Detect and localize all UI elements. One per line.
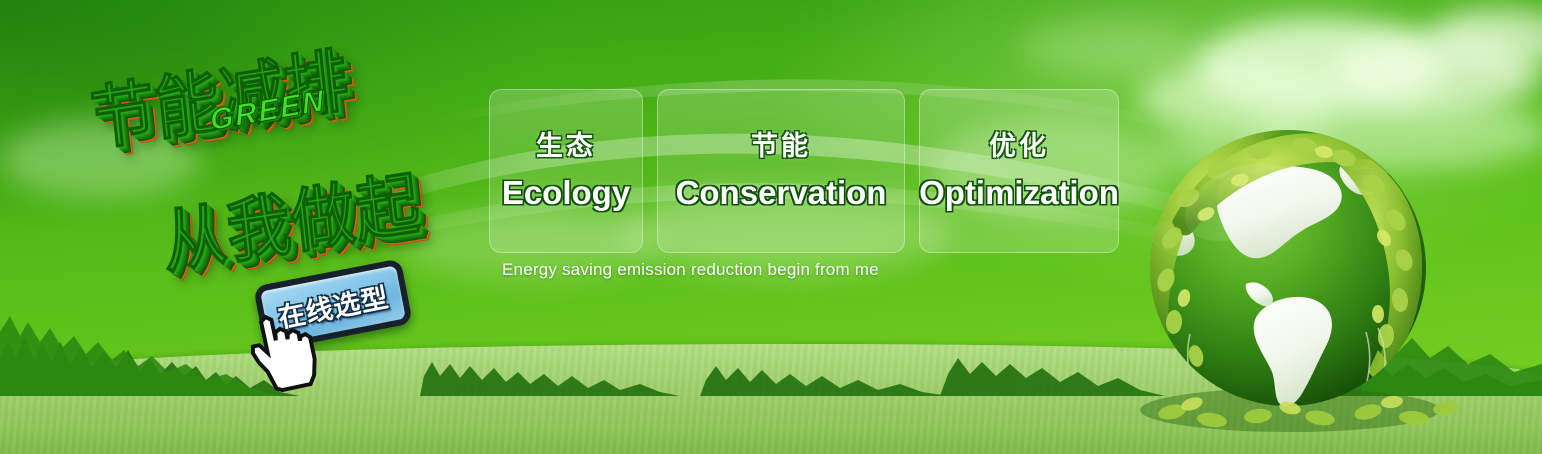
feature-card-en-label: Conservation <box>676 176 887 209</box>
feature-card-cn-label: 节能 <box>751 133 811 160</box>
leafy-green-globe-icon <box>1128 118 1458 438</box>
feature-card-cn-label: 优化 <box>989 133 1049 160</box>
feature-card-optimization[interactable]: 优化 Optimization <box>919 89 1119 253</box>
eco-hero-banner: 节能减排 GREEN 从我做起 在线选型 生态 Ecology 节能 Conse… <box>0 0 1542 454</box>
pointing-hand-cursor-icon <box>238 300 324 392</box>
feature-card-en-label: Ecology <box>502 176 630 209</box>
feature-card-cn-label: 生态 <box>536 133 596 160</box>
feature-card-conservation[interactable]: 节能 Conservation <box>657 89 905 253</box>
feature-card-list: 生态 Ecology 节能 Conservation 优化 Optimizati… <box>489 89 1119 253</box>
feature-card-en-label: Optimization <box>919 176 1119 209</box>
feature-card-ecology[interactable]: 生态 Ecology <box>489 89 643 253</box>
banner-tagline: Energy saving emission reduction begin f… <box>502 260 879 280</box>
hero-headline: 节能减排 GREEN 从我做起 <box>85 18 497 288</box>
